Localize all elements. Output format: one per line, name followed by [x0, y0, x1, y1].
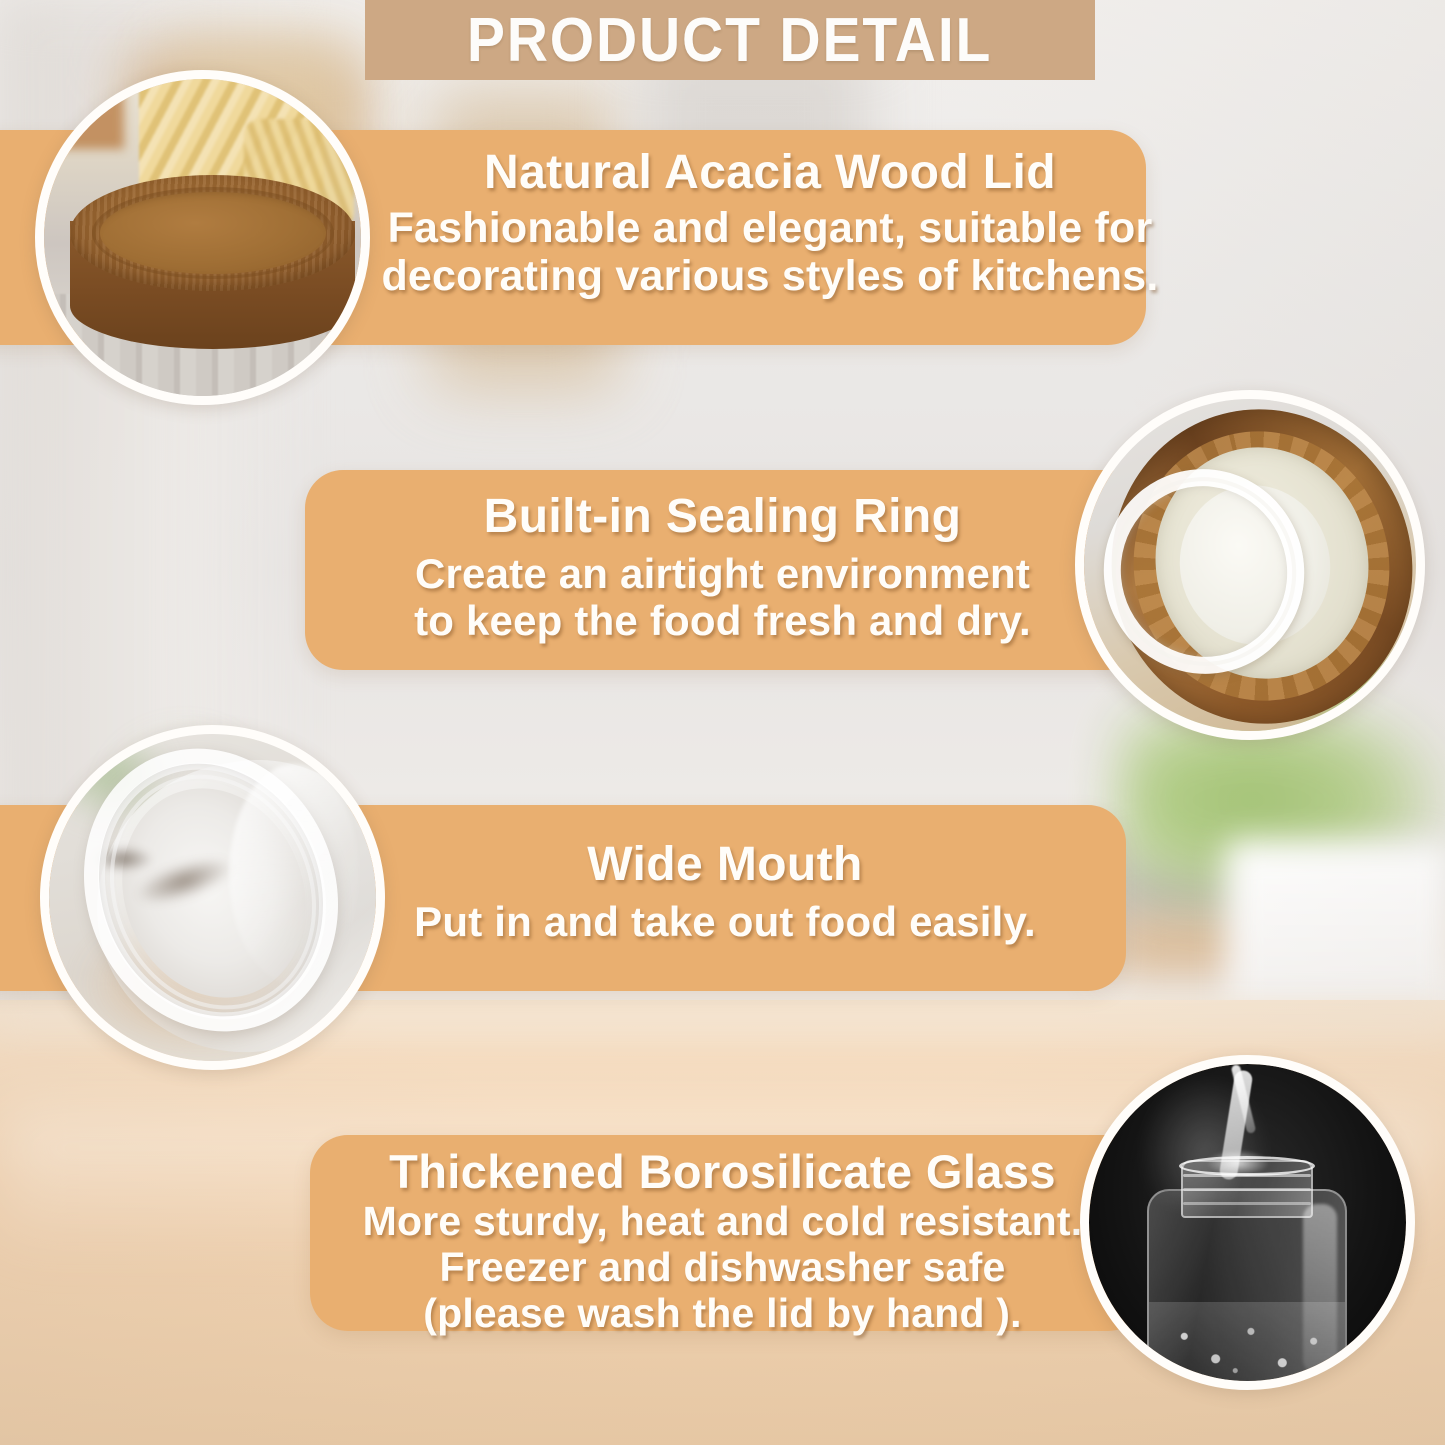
feature-heading-wide-mouth: Wide Mouth — [310, 840, 1140, 890]
glass-photo-thread-2 — [1183, 1188, 1311, 1191]
feature-subline: (please wash the lid by hand ). — [300, 1291, 1145, 1337]
feature-subline: Fashionable and elegant, suitable for — [380, 204, 1160, 252]
feature-heading-acacia-wood-lid: Natural Acacia Wood Lid — [380, 148, 1160, 198]
sealing-ring-photo-inner — [1084, 399, 1416, 731]
page-title-banner: PRODUCT DETAIL — [365, 0, 1095, 80]
feature-subtext-wide-mouth: Put in and take out food easily. — [310, 898, 1140, 945]
lid-photo-lid-groove — [92, 187, 334, 279]
feature-text-acacia-wood-lid: Natural Acacia Wood Lid Fashionable and … — [380, 148, 1160, 300]
feature-subline: to keep the food fresh and dry. — [300, 597, 1145, 644]
feature-heading-built-in-sealing-ring: Built-in Sealing Ring — [300, 492, 1145, 542]
feature-subtext-thickened-borosilicate-glass: More sturdy, heat and cold resistant. Fr… — [300, 1199, 1145, 1337]
mouth-photo-highlight — [229, 764, 359, 984]
feature-subline: decorating various styles of kitchens. — [380, 252, 1160, 300]
glass-photo-highlight — [1303, 1204, 1337, 1374]
glass-photo-thread-3 — [1183, 1202, 1311, 1205]
feature-text-built-in-sealing-ring: Built-in Sealing Ring Create an airtight… — [300, 492, 1145, 644]
feature-text-thickened-borosilicate-glass: Thickened Borosilicate Glass More sturdy… — [300, 1148, 1145, 1337]
sealing-ring-photo — [1075, 390, 1425, 740]
page-title: PRODUCT DETAIL — [467, 5, 992, 76]
lid-photo-wood-wall — [54, 79, 124, 149]
feature-subtext-built-in-sealing-ring: Create an airtight environment to keep t… — [300, 550, 1145, 644]
feature-subline: Freezer and dishwasher safe — [300, 1245, 1145, 1291]
feature-heading-thickened-borosilicate-glass: Thickened Borosilicate Glass — [300, 1148, 1145, 1197]
feature-text-wide-mouth: Wide Mouth Put in and take out food easi… — [310, 840, 1140, 945]
wide-mouth-photo-inner — [49, 734, 376, 1061]
wooden-lid-photo-inner — [44, 79, 361, 396]
feature-subline: Create an airtight environment — [300, 550, 1145, 597]
wooden-lid-photo — [35, 70, 370, 405]
borosilicate-glass-photo-inner — [1089, 1064, 1406, 1381]
feature-subtext-acacia-wood-lid: Fashionable and elegant, suitable for de… — [380, 204, 1160, 300]
feature-subline: Put in and take out food easily. — [310, 898, 1140, 945]
borosilicate-glass-photo — [1080, 1055, 1415, 1390]
wide-mouth-photo — [40, 725, 385, 1070]
feature-subline: More sturdy, heat and cold resistant. — [300, 1199, 1145, 1245]
